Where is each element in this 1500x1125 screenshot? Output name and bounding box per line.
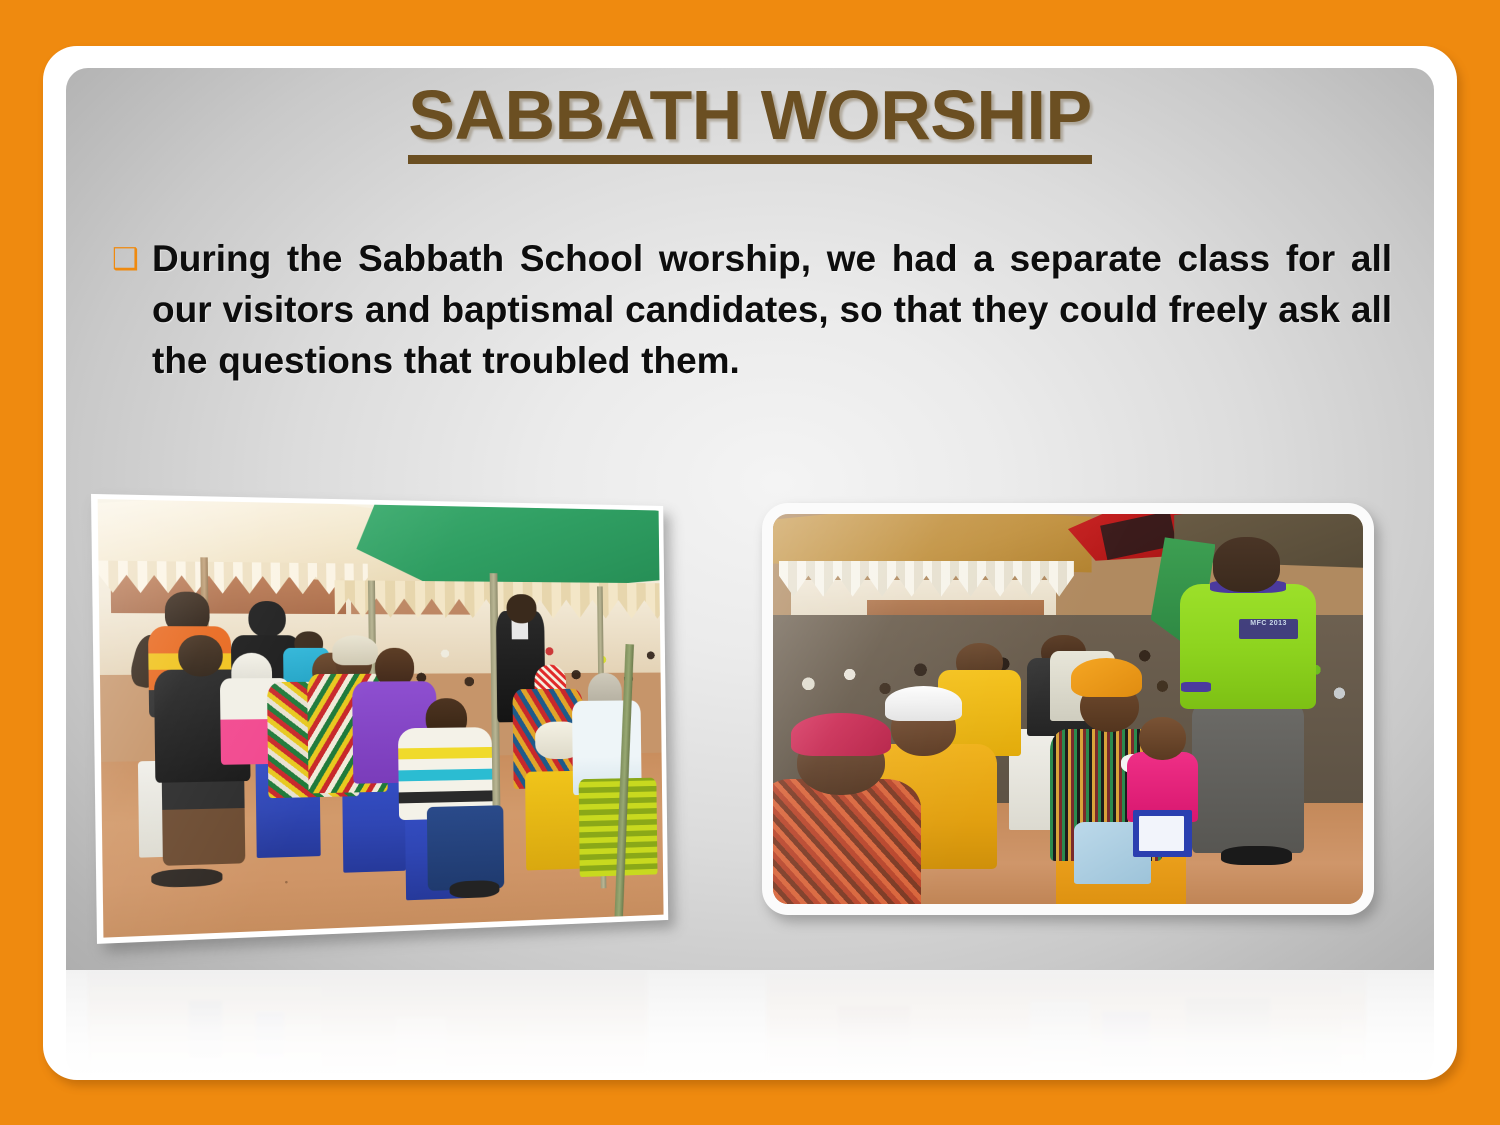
right-photo-frame[interactable]: MFC 2013 — [762, 503, 1374, 915]
photo2-elderly-woman-body — [773, 779, 921, 904]
left-photo-container — [86, 482, 686, 967]
photo2-green-shirt-man-trousers — [1192, 705, 1304, 853]
bullet-list: ❑ During the Sabbath School worship, we … — [112, 233, 1392, 386]
photo1-ankara-woman-2-headscarf — [332, 635, 378, 665]
photo1-striped-shirt-man-jeans — [427, 805, 505, 891]
photo1-seated-man-head — [178, 635, 223, 676]
photo2-green-shirt-man-cuff — [1181, 682, 1211, 692]
panel-reflection-strip — [66, 970, 1434, 1078]
photo1-silhouette-head — [248, 601, 286, 638]
photo2-green-shirt-back-print: MFC 2013 — [1239, 619, 1298, 639]
photo2-orange-turban — [1071, 658, 1142, 697]
sabbath-school-outdoor-class-right-image: MFC 2013 — [773, 514, 1363, 904]
slide-title-container: SABBATH WORSHIP — [66, 78, 1434, 164]
photo1-suited-man-head — [506, 594, 536, 623]
photo1-striped-shirt-man-shoe — [450, 880, 499, 898]
photo2-green-shirt-man-head — [1213, 537, 1281, 592]
left-photo-frame[interactable] — [91, 494, 668, 944]
photo1-seated-man-legs — [162, 769, 246, 866]
slide-canvas: SABBATH WORSHIP ❑ During the Sabbath Sch… — [0, 0, 1500, 1125]
photo2-red-headscarf — [791, 713, 891, 756]
left-photo-reflection — [88, 970, 648, 1074]
photo2-blue-book-page — [1139, 816, 1184, 851]
sabbath-school-outdoor-class-left-image — [98, 499, 664, 938]
photo2-white-headcover — [885, 686, 962, 721]
page-title: SABBATH WORSHIP — [408, 78, 1091, 164]
right-photo-reflection — [766, 970, 1366, 1074]
square-bullet-icon: ❑ — [112, 233, 152, 286]
bullet-item-text: During the Sabbath School worship, we ha… — [152, 233, 1392, 386]
photo2-green-shirt-man-shoe — [1221, 846, 1292, 866]
photo2-child-head — [1139, 717, 1186, 760]
